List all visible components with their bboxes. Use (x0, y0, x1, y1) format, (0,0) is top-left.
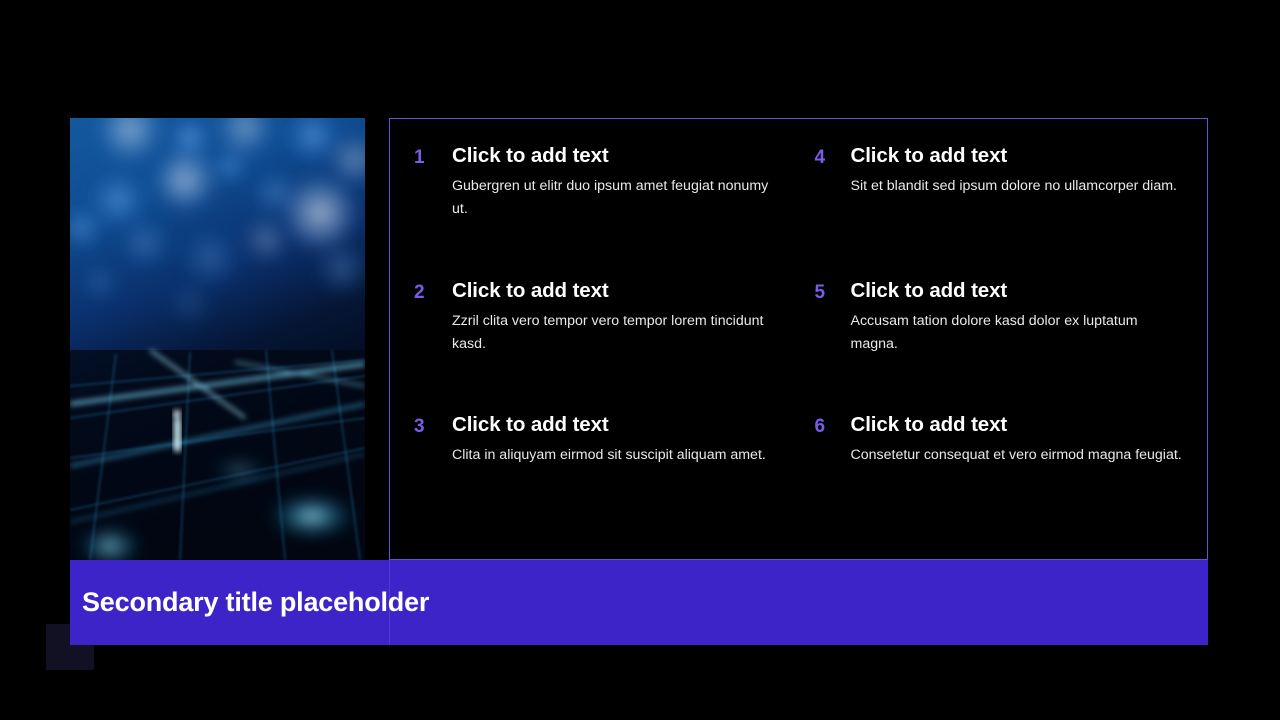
list-item[interactable]: 2 Click to add text Zzril clita vero tem… (414, 272, 787, 407)
item-body: Click to add text Consetetur consequat e… (851, 412, 1188, 467)
item-title[interactable]: Click to add text (452, 278, 787, 304)
item-description[interactable]: Gubergren ut elitr duo ipsum amet feugia… (452, 175, 787, 221)
item-title[interactable]: Click to add text (851, 412, 1188, 438)
item-title[interactable]: Click to add text (452, 412, 787, 438)
item-title[interactable]: Click to add text (452, 143, 787, 169)
blue-technology-bokeh-circuit-photo (70, 118, 365, 560)
item-number: 6 (815, 412, 851, 440)
item-title[interactable]: Click to add text (851, 278, 1188, 304)
item-description[interactable]: Consetetur consequat et vero eirmod magn… (851, 444, 1188, 467)
item-description[interactable]: Accusam tation dolore kasd dolor ex lupt… (851, 310, 1188, 356)
item-description[interactable]: Clita in aliquyam eirmod sit suscipit al… (452, 444, 787, 467)
item-body: Click to add text Gubergren ut elitr duo… (452, 143, 787, 221)
slide-image-placeholder[interactable] (70, 118, 365, 560)
item-body: Click to add text Clita in aliquyam eirm… (452, 412, 787, 467)
item-body: Click to add text Accusam tation dolore … (851, 278, 1188, 356)
item-number: 2 (414, 278, 452, 306)
secondary-title-bar: Secondary title placeholder (70, 560, 1208, 645)
item-number: 1 (414, 143, 452, 171)
list-item[interactable]: 6 Click to add text Consetetur consequat… (815, 406, 1188, 541)
item-description[interactable]: Zzril clita vero tempor vero tempor lore… (452, 310, 787, 356)
item-number: 5 (815, 278, 851, 306)
item-body: Click to add text Sit et blandit sed ips… (851, 143, 1188, 198)
presentation-slide: 1 Click to add text Gubergren ut elitr d… (0, 0, 1280, 720)
items-grid: 1 Click to add text Gubergren ut elitr d… (390, 119, 1207, 559)
secondary-title[interactable]: Secondary title placeholder (82, 560, 429, 645)
content-panel: 1 Click to add text Gubergren ut elitr d… (389, 118, 1208, 560)
item-number: 4 (815, 143, 851, 171)
item-description[interactable]: Sit et blandit sed ipsum dolore no ullam… (851, 175, 1188, 198)
item-body: Click to add text Zzril clita vero tempo… (452, 278, 787, 356)
item-title[interactable]: Click to add text (851, 143, 1188, 169)
list-item[interactable]: 4 Click to add text Sit et blandit sed i… (815, 137, 1188, 272)
list-item[interactable]: 1 Click to add text Gubergren ut elitr d… (414, 137, 787, 272)
list-item[interactable]: 5 Click to add text Accusam tation dolor… (815, 272, 1188, 407)
item-number: 3 (414, 412, 452, 440)
list-item[interactable]: 3 Click to add text Clita in aliquyam ei… (414, 406, 787, 541)
